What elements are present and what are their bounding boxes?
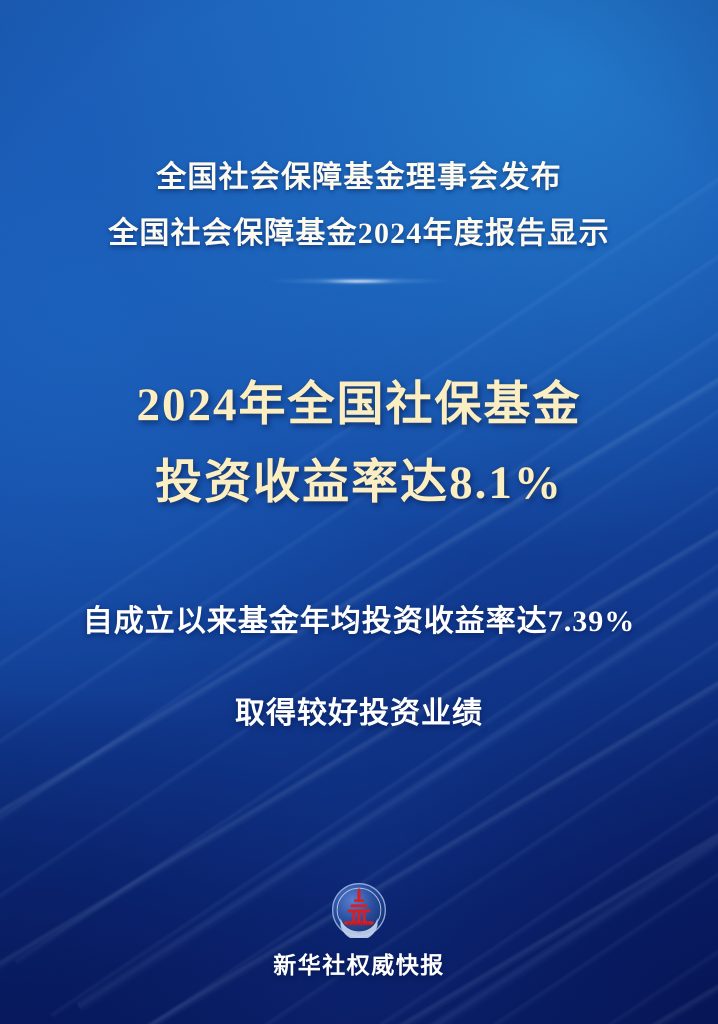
- xinhua-news-agency-logo-icon: XINHUA: [331, 882, 387, 938]
- subtext-line-2: 取得较好投资业绩: [0, 692, 718, 736]
- poster-canvas: 全国社会保障基金理事会发布 全国社会保障基金2024年度报告显示 2024年全国…: [0, 0, 718, 1024]
- kicker-line-1: 全国社会保障基金理事会发布: [0, 150, 718, 206]
- kicker-block: 全国社会保障基金理事会发布 全国社会保障基金2024年度报告显示: [0, 150, 718, 262]
- headline-line-2: 投资收益率达8.1%: [0, 444, 718, 522]
- footer-label: 新华社权威快报: [0, 946, 718, 980]
- headline-line-1: 2024年全国社保基金: [0, 366, 718, 444]
- svg-text:XINHUA: XINHUA: [347, 922, 370, 928]
- headline-block: 2024年全国社保基金 投资收益率达8.1%: [0, 366, 718, 522]
- light-flare-divider-icon: [264, 278, 454, 285]
- footer-block: XINHUA 新华社权威快报: [0, 882, 718, 980]
- poster-content: 全国社会保障基金理事会发布 全国社会保障基金2024年度报告显示 2024年全国…: [0, 0, 718, 1024]
- kicker-line-2: 全国社会保障基金2024年度报告显示: [0, 206, 718, 262]
- subtext-block: 自成立以来基金年均投资收益率达7.39% 取得较好投资业绩: [0, 600, 718, 736]
- subtext-line-1: 自成立以来基金年均投资收益率达7.39%: [0, 600, 718, 644]
